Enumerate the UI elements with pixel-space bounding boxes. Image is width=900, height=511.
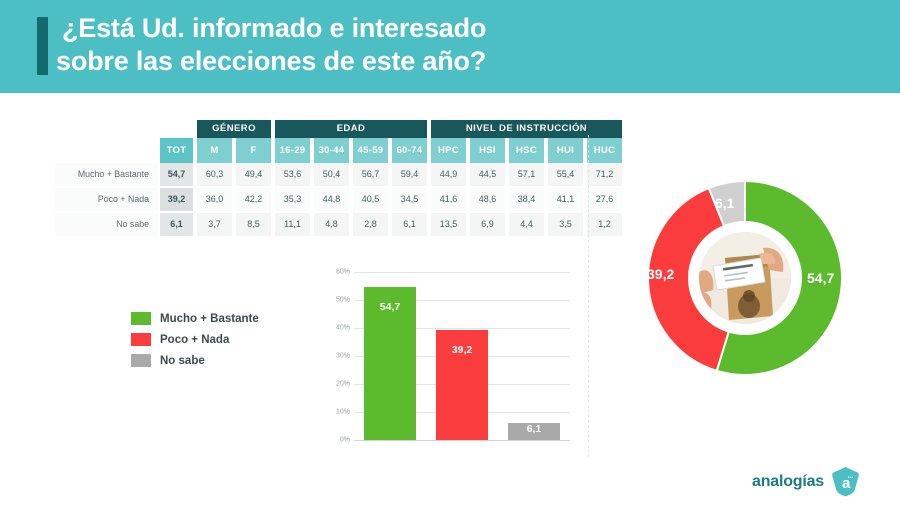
bar-chart: 0%10%20%30%40%50%60%54,739,26,1 [320, 266, 570, 446]
table-group-header: GÉNERO [195, 120, 273, 138]
table-cell: 38,4 [507, 188, 546, 213]
legend-item: Poco + Nada [131, 333, 259, 346]
results-table-container: GÉNEROEDADNIVEL DE INSTRUCCIÓN TOTMF16-2… [55, 120, 624, 238]
table-corner-cell [55, 138, 158, 163]
table-cell: 2,8 [351, 213, 390, 238]
bar-chart-y-tick-label: 40% [320, 325, 350, 332]
chart-legend: Mucho + BastantePoco + NadaNo sabe [131, 312, 259, 375]
table-cell: 44,8 [312, 188, 351, 213]
table-row: Poco + Nada39,236,042,235,344,840,534,54… [55, 188, 624, 213]
brand-logo-text: analogías [752, 473, 824, 491]
table-cell: 34,5 [390, 188, 429, 213]
legend-item: Mucho + Bastante [131, 312, 259, 325]
table-cell: 6,1 [390, 213, 429, 238]
table-cell: 71,2 [585, 163, 624, 188]
table-cell: 55,4 [546, 163, 585, 188]
table-cell: 11,1 [273, 213, 312, 238]
svg-text:•••: ••• [848, 475, 854, 481]
table-cell: 57,1 [507, 163, 546, 188]
ballot-box-illustration [699, 232, 791, 324]
bar-chart-bar: 39,2 [436, 330, 488, 440]
table-cell: 3,7 [195, 213, 234, 238]
page-title-line2: sobre las elecciones de este año? [56, 45, 842, 78]
table-group-header-row: GÉNEROEDADNIVEL DE INSTRUCCIÓN [55, 120, 624, 138]
brand-logo-badge-icon: a ••• [831, 466, 860, 497]
legend-swatch-icon [131, 333, 151, 346]
bar-chart-value-label: 54,7 [364, 301, 416, 313]
table-cell: 8,5 [234, 213, 273, 238]
bar-chart-bar: 6,1 [508, 423, 560, 440]
table-cell: 60,3 [195, 163, 234, 188]
table-cell: 4,4 [507, 213, 546, 238]
table-row-label: No sabe [55, 213, 158, 238]
table-cell: 13,5 [429, 213, 468, 238]
table-cell: 54,7 [158, 163, 195, 188]
bar-chart-axis-line [354, 440, 570, 441]
table-cell: 35,3 [273, 188, 312, 213]
table-row-label: Mucho + Bastante [55, 163, 158, 188]
table-group-header: NIVEL DE INSTRUCCIÓN [429, 120, 624, 138]
table-column-header-hsc: HSC [507, 138, 546, 163]
table-cell: 4,8 [312, 213, 351, 238]
table-column-header-60-74: 60-74 [390, 138, 429, 163]
table-row-label: Poco + Nada [55, 188, 158, 213]
table-cell: 41,1 [546, 188, 585, 213]
table-cell: 6,1 [158, 213, 195, 238]
table-column-header-m: M [195, 138, 234, 163]
table-cell: 56,7 [351, 163, 390, 188]
table-cell: 27,6 [585, 188, 624, 213]
table-cell: 48,6 [468, 188, 507, 213]
table-cell: 59,4 [390, 163, 429, 188]
bar-chart-y-tick-label: 0% [320, 437, 350, 444]
bar-chart-value-label: 39,2 [436, 344, 488, 356]
table-group-header-spacer [55, 120, 195, 138]
page-title-line1: ¿Está Ud. informado e interesado [62, 13, 486, 43]
table-column-header-f: F [234, 138, 273, 163]
table-row: Mucho + Bastante54,760,349,453,650,456,7… [55, 163, 624, 188]
table-column-header-30-44: 30-44 [312, 138, 351, 163]
bar-chart-gridline [354, 272, 570, 273]
donut-chart: 54,7 39,2 6,1 [645, 178, 845, 378]
hexagon-badge-icon: a ••• [831, 466, 860, 497]
table-column-header-huc: HUC [585, 138, 624, 163]
bar-chart-y-tick-label: 30% [320, 353, 350, 360]
legend-swatch-icon [131, 312, 151, 325]
table-row: No sabe6,13,78,511,14,82,86,113,56,94,43… [55, 213, 624, 238]
table-cell: 39,2 [158, 188, 195, 213]
ballot-box-photo [695, 228, 795, 328]
header-accent-bar [37, 17, 48, 75]
table-column-header-hsi: HSI [468, 138, 507, 163]
brand-logo: analogías a ••• [752, 466, 860, 497]
table-cell: 1,2 [585, 213, 624, 238]
bar-chart-bar: 54,7 [364, 287, 416, 440]
table-column-header-16-29: 16-29 [273, 138, 312, 163]
legend-label: No sabe [160, 355, 205, 367]
table-cell: 41,6 [429, 188, 468, 213]
legend-swatch-icon [131, 354, 151, 367]
table-column-header-hui: HUI [546, 138, 585, 163]
bar-chart-value-label: 6,1 [508, 423, 560, 435]
table-body: Mucho + Bastante54,760,349,453,650,456,7… [55, 163, 624, 238]
table-column-header-hpc: HPC [429, 138, 468, 163]
donut-label-red: 39,2 [647, 266, 674, 282]
section-divider [588, 135, 589, 457]
bar-chart-y-tick-label: 20% [320, 381, 350, 388]
bar-chart-y-tick-label: 50% [320, 297, 350, 304]
table-cell: 3,5 [546, 213, 585, 238]
donut-label-green: 54,7 [807, 270, 834, 286]
table-column-header-row: TOTMF16-2930-4445-5960-74HPCHSIHSCHUIHUC [55, 138, 624, 163]
table-cell: 6,9 [468, 213, 507, 238]
table-cell: 49,4 [234, 163, 273, 188]
bar-chart-y-tick-label: 60% [320, 269, 350, 276]
table-group-header: EDAD [273, 120, 429, 138]
legend-item: No sabe [131, 354, 259, 367]
table-column-header-tot: TOT [158, 138, 195, 163]
table-cell: 42,2 [234, 188, 273, 213]
results-table: GÉNEROEDADNIVEL DE INSTRUCCIÓN TOTMF16-2… [55, 120, 624, 238]
legend-label: Mucho + Bastante [160, 313, 259, 325]
legend-label: Poco + Nada [160, 334, 229, 346]
donut-label-gray: 6,1 [715, 195, 734, 211]
table-cell: 36,0 [195, 188, 234, 213]
table-cell: 53,6 [273, 163, 312, 188]
table-cell: 50,4 [312, 163, 351, 188]
table-cell: 40,5 [351, 188, 390, 213]
bar-chart-y-tick-label: 10% [320, 409, 350, 416]
page-title: ¿Está Ud. informado e interesado sobre l… [62, 12, 842, 78]
table-column-header-45-59: 45-59 [351, 138, 390, 163]
table-cell: 44,5 [468, 163, 507, 188]
table-cell: 44,9 [429, 163, 468, 188]
page-header: ¿Está Ud. informado e interesado sobre l… [0, 0, 900, 93]
